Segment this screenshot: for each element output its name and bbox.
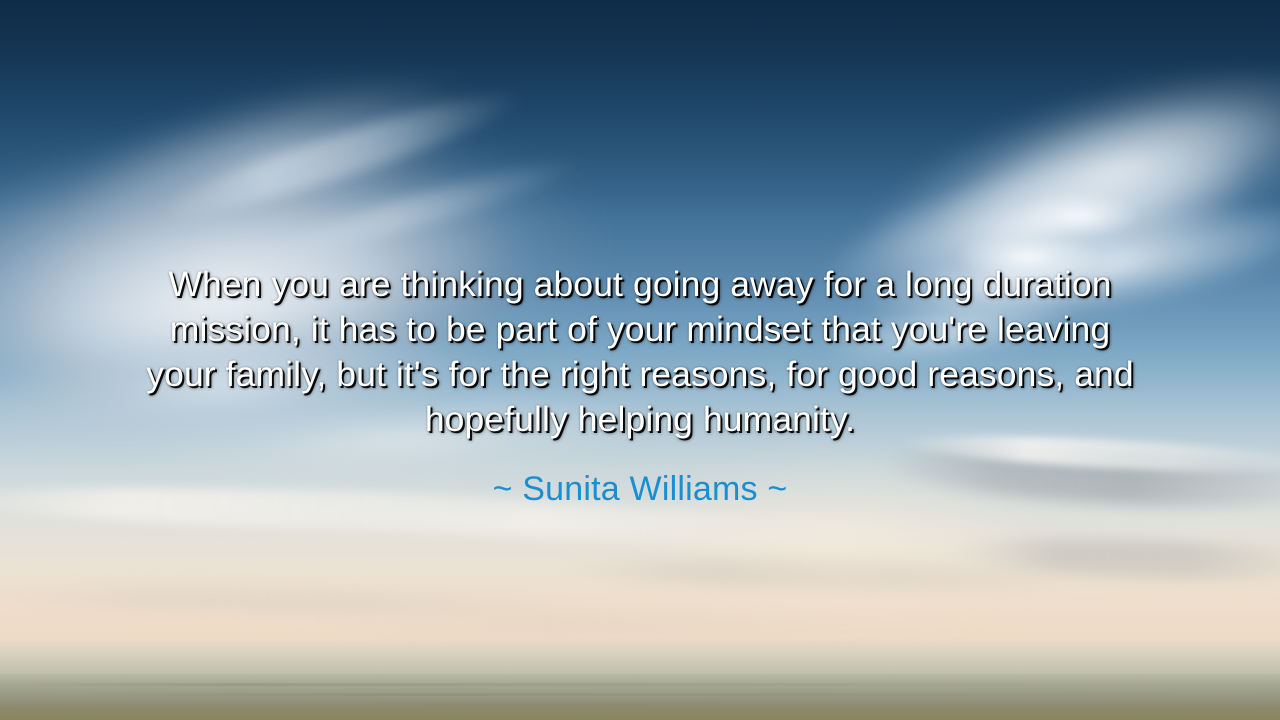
horizon-haze bbox=[0, 638, 1280, 674]
quote-attribution: ~ Sunita Williams ~ bbox=[0, 442, 1280, 510]
quote-text: When you are thinking about going away f… bbox=[140, 262, 1140, 442]
ground-streak-3 bbox=[0, 703, 1280, 706]
ground-streak-2 bbox=[0, 693, 1280, 696]
ground-plain bbox=[0, 674, 1280, 720]
quote-image-canvas: When you are thinking about going away f… bbox=[0, 0, 1280, 720]
quote-block: When you are thinking about going away f… bbox=[0, 262, 1280, 510]
ground-streak-1 bbox=[0, 683, 1280, 686]
